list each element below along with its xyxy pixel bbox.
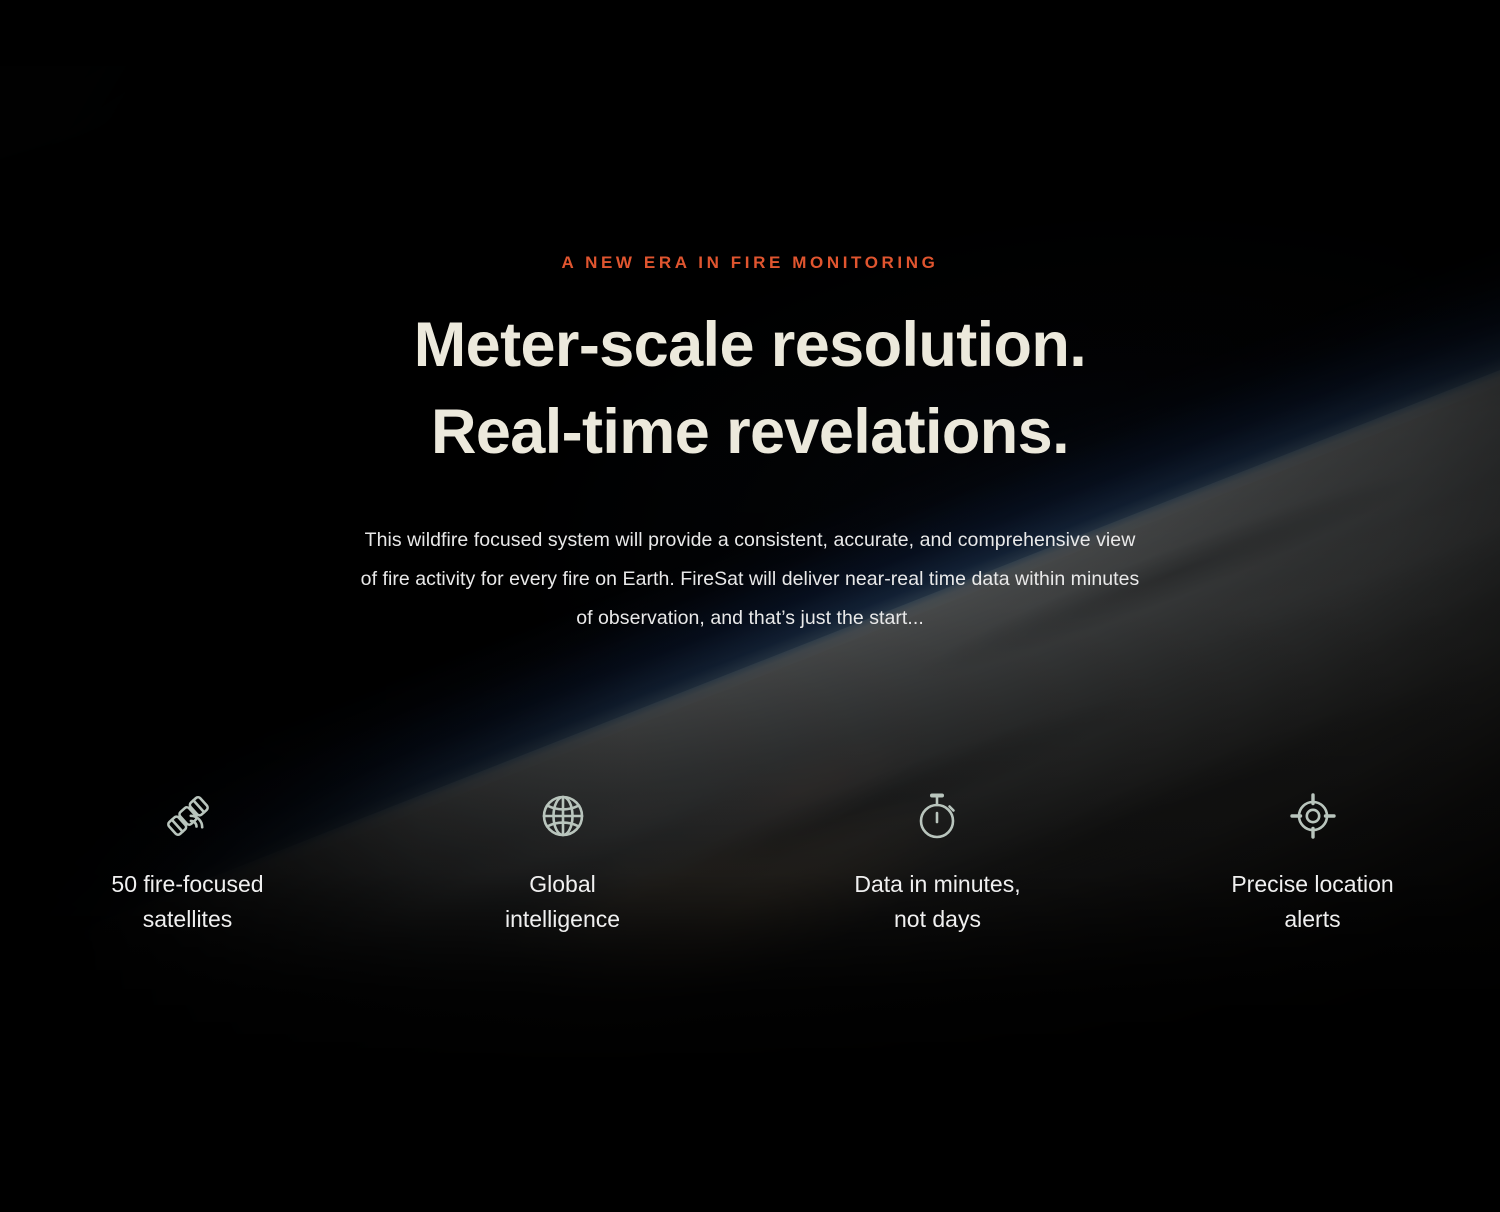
hero-content: A NEW ERA IN FIRE MONITORING Meter-scale…: [0, 0, 1500, 1212]
headline-line-2: Real-time revelations.: [414, 389, 1086, 476]
headline-line-1: Meter-scale resolution.: [414, 302, 1086, 389]
hero-subcopy: This wildfire focused system will provid…: [355, 521, 1145, 638]
hero-section: A NEW ERA IN FIRE MONITORING Meter-scale…: [0, 0, 1500, 1212]
hero-eyebrow: A NEW ERA IN FIRE MONITORING: [562, 253, 939, 273]
hero-headline: Meter-scale resolution. Real-time revela…: [414, 302, 1086, 476]
